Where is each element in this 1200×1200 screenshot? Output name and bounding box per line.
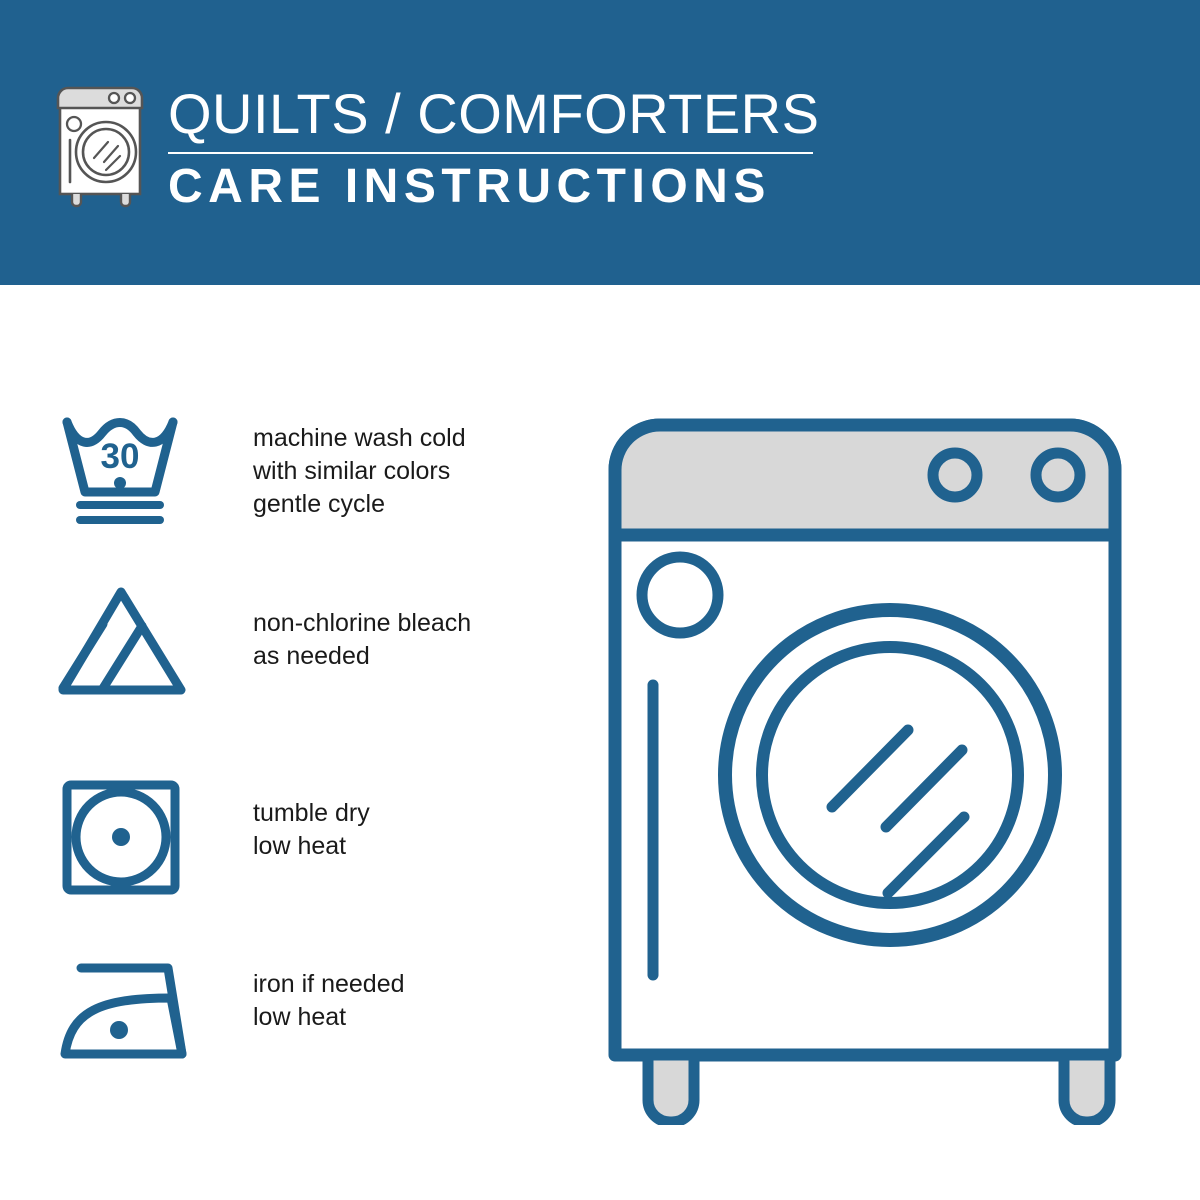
washing-machine-icon [52,82,160,210]
page-title: QUILTS / COMFORTERS [168,84,828,144]
tumble-dry-low-heat-icon [55,775,205,905]
front-load-washing-machine-illustration [590,395,1170,1125]
care-item-label: iron if needed low heat [253,968,405,1034]
care-item-label: machine wash cold with similar colors ge… [253,422,466,521]
knob-left [933,453,977,497]
page-subtitle: CARE INSTRUCTIONS [168,160,828,214]
page-header: QUILTS / COMFORTERS CARE INSTRUCTIONS [0,0,1200,285]
care-instruction-list: 30 machine wash cold with similar colors… [0,285,560,1200]
door-inner-ring [762,647,1018,903]
knob-right [1036,453,1080,497]
title-divider [168,152,813,154]
iron-low-heat-icon [55,950,205,1080]
foot-right [1064,1055,1110,1122]
wash-tub-30-gentle-icon: 30 [55,405,205,535]
care-item-label: non-chlorine bleach as needed [253,607,471,673]
header-title-block: QUILTS / COMFORTERS CARE INSTRUCTIONS [168,84,828,214]
wash-temperature-label: 30 [101,437,140,476]
care-item-label: tumble dry low heat [253,797,370,863]
non-chlorine-bleach-triangle-icon [55,580,205,710]
care-instructions-page: QUILTS / COMFORTERS CARE INSTRUCTIONS [0,0,1200,1200]
indicator-light [642,557,718,633]
foot-left [648,1055,694,1122]
